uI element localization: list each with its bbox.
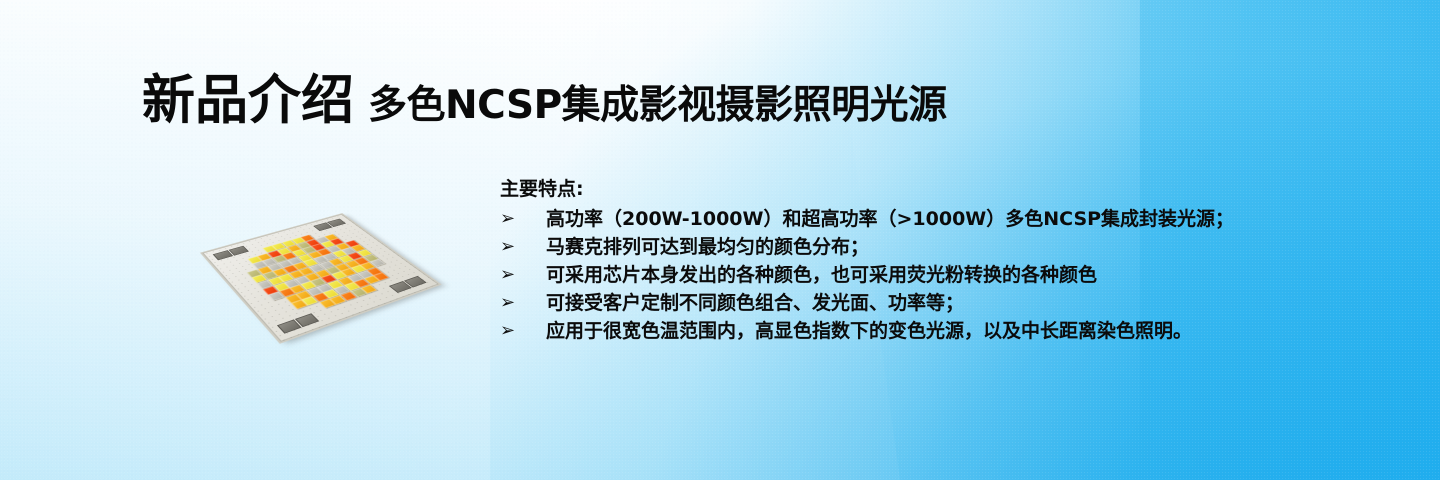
product-intro-slide: 新品介绍 多色NCSP集成影视摄影照明光源 主要特点: ➢ 高: [0, 0, 1440, 480]
led-module-image: [196, 172, 440, 368]
led-perspective-stage: [196, 172, 440, 368]
feature-item-1: ➢ 高功率（200W-1000W）和超高功率（>1000W）多色NCSP集成封装…: [500, 205, 1380, 233]
title-main-text: 新品介绍: [142, 74, 354, 127]
feature-item-2-text: 马赛克排列可达到最均匀的颜色分布；: [546, 233, 869, 261]
led-board: [202, 214, 438, 342]
feature-item-3-text: 可采用芯片本身发出的各种颜色，也可采用荧光粉转换的各种颜色: [546, 261, 1097, 289]
feature-item-5-text: 应用于很宽色温范围内，高显色指数下的变色光源，以及中长距离染色照明。: [546, 317, 1192, 345]
feature-item-4: ➢ 可接受客户定制不同颜色组合、发光面、功率等；: [500, 289, 1380, 317]
bullet-arrow-icon: ➢: [500, 317, 546, 345]
feature-item-5: ➢ 应用于很宽色温范围内，高显色指数下的变色光源，以及中长距离染色照明。: [500, 317, 1380, 345]
feature-list: 主要特点: ➢ 高功率（200W-1000W）和超高功率（>1000W）多色NC…: [500, 176, 1380, 345]
bullet-arrow-icon: ➢: [500, 261, 546, 289]
title-subtitle-text: 多色NCSP集成影视摄影照明光源: [368, 86, 947, 125]
feature-item-4-text: 可接受客户定制不同颜色组合、发光面、功率等；: [546, 289, 964, 317]
feature-item-1-text: 高功率（200W-1000W）和超高功率（>1000W）多色NCSP集成封装光源…: [546, 205, 1234, 233]
bullet-arrow-icon: ➢: [500, 289, 546, 317]
bullet-arrow-icon: ➢: [500, 233, 546, 261]
feature-item-2: ➢ 马赛克排列可达到最均匀的颜色分布；: [500, 233, 1380, 261]
page-title: 新品介绍 多色NCSP集成影视摄影照明光源: [142, 74, 947, 127]
feature-item-3: ➢ 可采用芯片本身发出的各种颜色，也可采用荧光粉转换的各种颜色: [500, 261, 1380, 289]
feature-list-heading: 主要特点:: [500, 176, 1380, 202]
bullet-arrow-icon: ➢: [500, 205, 546, 233]
